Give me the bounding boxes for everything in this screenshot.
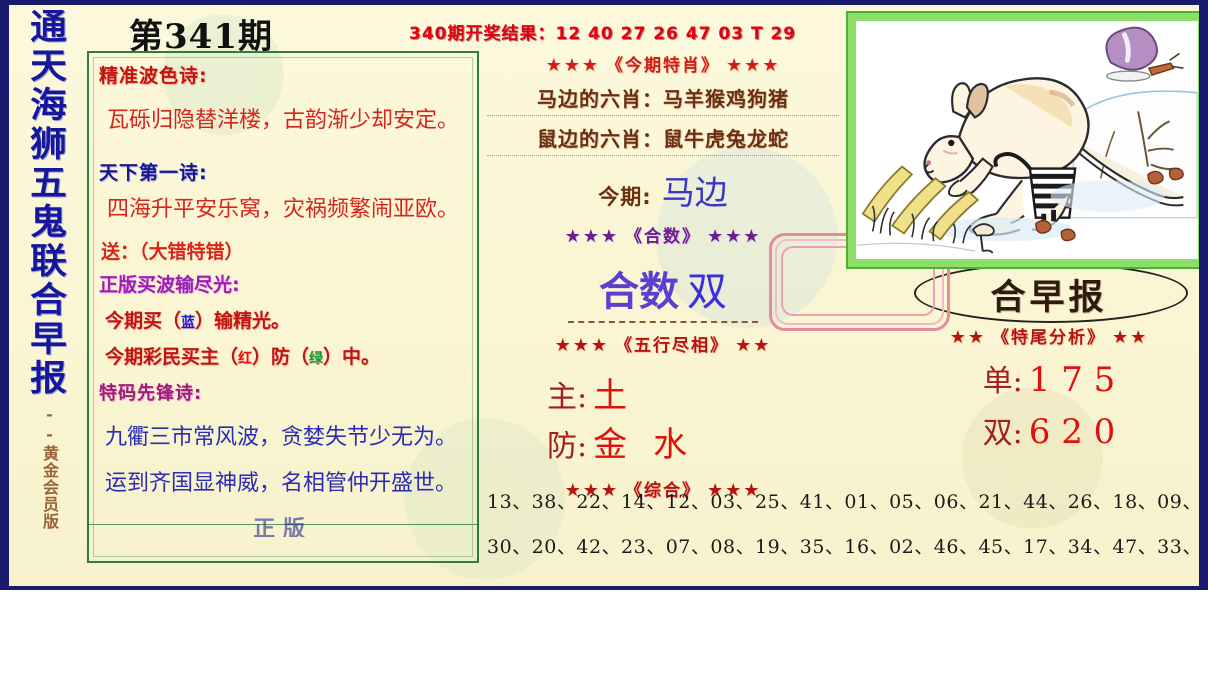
- vbanner-char: 五: [31, 167, 68, 202]
- section-title-zhengban: 正版买波输尽光:: [99, 270, 467, 297]
- buy2-mid: ）防（: [252, 346, 309, 368]
- vbanner-char: 通: [31, 11, 68, 46]
- wuxing-guard-value-2: 水: [653, 425, 687, 465]
- heshu-underline: [568, 319, 758, 323]
- lottery-poster: 通 天 海 狮 五 鬼 联 合 早 报 --黄金会员版 第341期 340期开奖…: [0, 0, 1208, 700]
- buy2-pre: 今期彩民买主（: [105, 346, 238, 368]
- header-heshu-label: 《合数》: [625, 227, 701, 247]
- vbanner-char: 天: [31, 50, 68, 85]
- star-right-icon: ★★: [1112, 327, 1148, 348]
- odd-value: 1 7 5: [1029, 360, 1116, 400]
- poem-tianxia: 四海升平安乐窝，灾祸频繁闹亚欧。: [107, 191, 467, 223]
- row-shu-six: 鼠边的六肖：鼠牛虎兔龙蛇: [487, 123, 839, 156]
- row-ma-value: 马羊猴鸡狗猪: [663, 87, 789, 111]
- poem-tema-line1: 九衢三市常风波，贪婪失节少无为。: [105, 419, 467, 451]
- vbanner-char: 早: [31, 323, 68, 358]
- brand-oval-text: 合早报: [929, 269, 1169, 320]
- kangaroo-illustration-svg: [856, 21, 1198, 259]
- buy2-post: ）中。: [323, 346, 380, 368]
- poem-bose: 瓦砾归隐替洋楼，古韵渐少却安定。: [107, 102, 467, 134]
- draw-result-line: 340期开奖结果：12 40 27 26 47 03 T 29: [409, 19, 796, 44]
- heshu-value: 双: [687, 269, 727, 315]
- right-panel: ★★《特尾分析》★★ 单:1 7 5 双:6 2 0: [889, 323, 1208, 452]
- wuxing-guard-value-1: 金: [593, 425, 627, 465]
- poster-card: 通 天 海 狮 五 鬼 联 合 早 报 --黄金会员版 第341期 340期开奖…: [0, 0, 1208, 590]
- buy2-color-2: 绿: [309, 351, 323, 367]
- vbanner-char: 联: [31, 245, 68, 280]
- header-teiwei-label: 《特尾分析》: [992, 328, 1106, 348]
- wuxing-guard-label: 防:: [547, 429, 587, 464]
- even-row: 双:6 2 0: [889, 408, 1208, 452]
- header-wuxing: ★★★《五行尽相》★★: [487, 331, 839, 356]
- heshu-label: 合数: [599, 268, 679, 315]
- wuxing-main-label: 主:: [547, 380, 587, 415]
- buy-line-2: 今期彩民买主（红）防（绿）中。: [105, 342, 467, 369]
- star-left-icon: ★★★: [555, 335, 609, 356]
- left-poem-box: 精准波色诗: 瓦砾归隐替洋楼，古韵渐少却安定。 天下第一诗: 四海升平安乐窝，灾…: [87, 51, 479, 563]
- buy1-post: ）输精光。: [195, 310, 290, 332]
- vbanner-char: 狮: [31, 128, 68, 163]
- star-right-icon: ★★★: [707, 226, 761, 247]
- current-pick-row: 今期:马边: [487, 166, 839, 214]
- star-right-icon: ★★★: [726, 55, 780, 76]
- header-texhao: ★★★《今期特肖》★★★: [487, 51, 839, 76]
- vbanner-char: 海: [31, 89, 68, 124]
- star-left-icon: ★★★: [546, 55, 600, 76]
- poem-tema-line2: 运到齐国显神威，名相管仲开盛世。: [105, 465, 467, 497]
- section-title-tianxia: 天下第一诗:: [99, 158, 467, 185]
- section-title-temaxianfeng: 特码先锋诗:: [99, 379, 467, 405]
- star-left-icon: ★★★: [565, 226, 619, 247]
- even-label: 双:: [983, 416, 1023, 451]
- buy1-color: 蓝: [181, 315, 195, 331]
- odd-label: 单:: [983, 364, 1023, 399]
- row-ma-six: 马边的六肖：马羊猴鸡狗猪: [487, 83, 839, 116]
- buy2-color-1: 红: [238, 351, 252, 367]
- star-left-icon: ★★: [950, 327, 986, 348]
- vbanner-char: 报: [31, 362, 68, 397]
- current-pick-value: 马边: [662, 173, 728, 212]
- odd-row: 单:1 7 5: [889, 356, 1208, 400]
- header-teiwei: ★★《特尾分析》★★: [889, 323, 1208, 348]
- send-label: 送：（大错特错）: [101, 237, 467, 264]
- buy-line-1: 今期买（蓝）输精光。: [105, 306, 467, 333]
- vertical-brand-banner: 通 天 海 狮 五 鬼 联 合 早 报 --黄金会员版: [21, 11, 77, 587]
- star-right-icon: ★★: [735, 335, 771, 356]
- number-row-2: 30、20、42、23、07、08、19、35、16、02、46、45、17、3…: [487, 532, 1207, 559]
- illustration-frame: [846, 11, 1208, 269]
- buy1-pre: 今期买（: [105, 310, 181, 332]
- header-texhao-label: 《今期特肖》: [606, 56, 720, 76]
- row-shu-label: 鼠边的六肖：: [537, 127, 663, 151]
- row-shu-value: 鼠牛虎兔龙蛇: [663, 127, 789, 151]
- current-pick-label: 今期:: [598, 185, 651, 209]
- vbanner-char: 鬼: [31, 206, 68, 241]
- vbanner-char: 合: [31, 284, 68, 319]
- kangaroo-illustration: [856, 21, 1198, 259]
- even-value: 6 2 0: [1029, 412, 1116, 452]
- bottom-white-band: [0, 590, 1208, 700]
- wuxing-main-value: 土: [593, 376, 627, 416]
- vbanner-subtitle: --黄金会员版: [41, 405, 57, 530]
- number-row-1: 13、38、22、14、12、03、25、41、01、05、06、21、44、2…: [487, 487, 1207, 514]
- left-box-faint-text: 正 版: [109, 511, 449, 537]
- wuxing-main-row: 主:土: [487, 368, 839, 417]
- wuxing-guard-row: 防:金水: [487, 417, 839, 466]
- row-ma-label: 马边的六肖：: [537, 87, 663, 111]
- section-title-bose: 精准波色诗:: [99, 61, 467, 88]
- header-wuxing-label: 《五行尽相》: [615, 336, 729, 356]
